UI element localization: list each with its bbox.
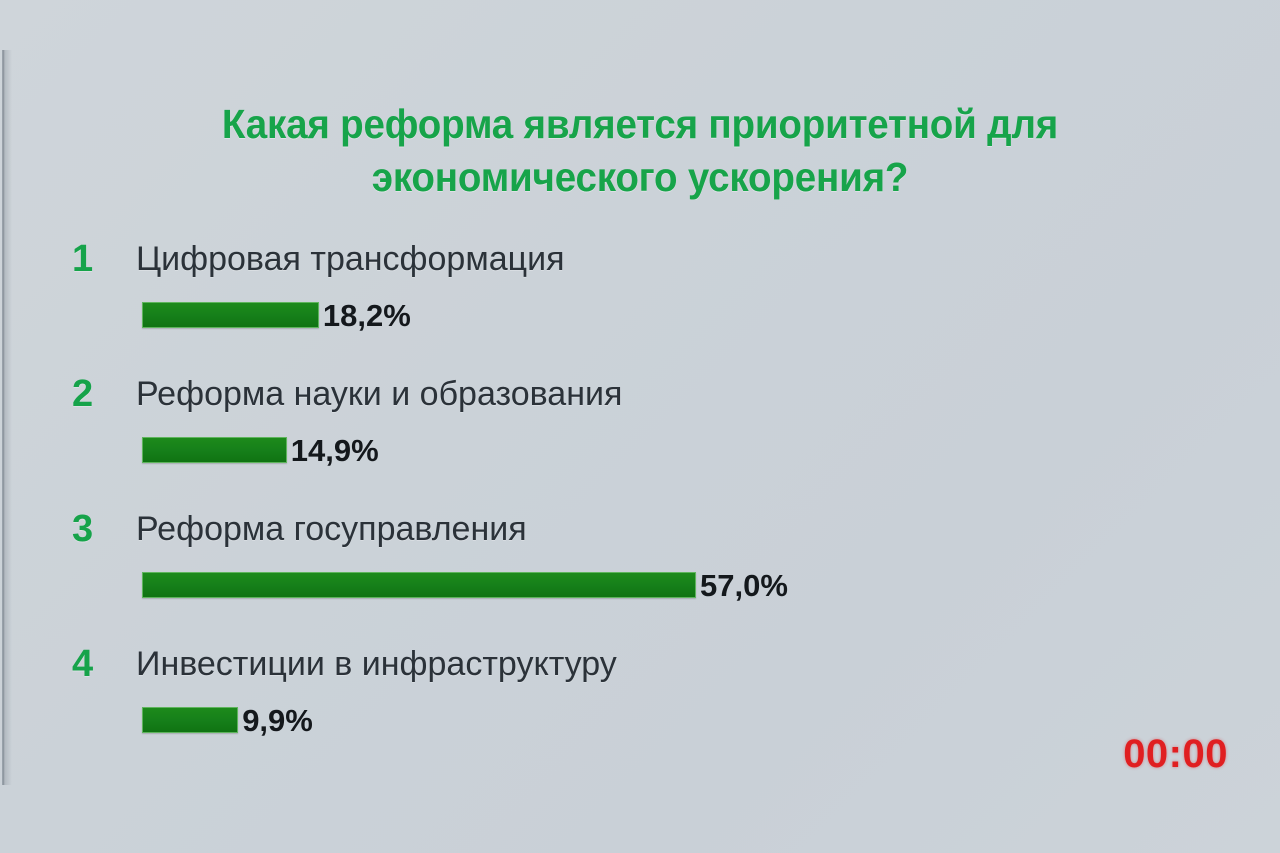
poll-option-row: 3 Реформа госуправления 57,0% (0, 502, 1280, 637)
option-rank-number: 2 (72, 373, 116, 415)
option-label: Реформа госуправления (136, 508, 527, 550)
option-rank-number: 1 (72, 238, 116, 280)
option-percentage: 9,9% (242, 705, 313, 736)
poll-option-row: 1 Цифровая трансформация 18,2% (0, 232, 1280, 367)
poll-option-row: 4 Инвестиции в инфраструктуру 9,9% (0, 637, 1280, 772)
option-percentage: 18,2% (323, 300, 411, 331)
option-bar-line: 18,2% (142, 300, 411, 330)
poll-option-row: 2 Реформа науки и образования 14,9% (0, 367, 1280, 502)
option-bar (142, 302, 319, 328)
option-bar-line: 57,0% (142, 570, 788, 600)
option-bar (142, 572, 696, 598)
option-percentage: 57,0% (700, 570, 788, 601)
option-bar-line: 9,9% (142, 705, 313, 735)
poll-options-list: 1 Цифровая трансформация 18,2% 2 Реформа… (0, 232, 1280, 772)
option-bar (142, 707, 238, 733)
option-percentage: 14,9% (291, 435, 379, 466)
poll-question: Какая реформа является приоритетной для … (170, 98, 1110, 204)
option-label: Цифровая трансформация (136, 238, 565, 280)
poll-question-line-1: Какая реформа является приоритетной для (170, 98, 1110, 151)
option-label: Реформа науки и образования (136, 373, 622, 415)
option-rank-number: 4 (72, 643, 116, 685)
countdown-timer: 00:00 (1123, 732, 1228, 776)
option-label: Инвестиции в инфраструктуру (136, 643, 617, 685)
poll-results-screen: Какая реформа является приоритетной для … (0, 0, 1280, 853)
option-rank-number: 3 (72, 508, 116, 550)
option-bar-line: 14,9% (142, 435, 379, 465)
poll-question-line-2: экономического ускорения? (170, 151, 1110, 204)
option-bar (142, 437, 287, 463)
